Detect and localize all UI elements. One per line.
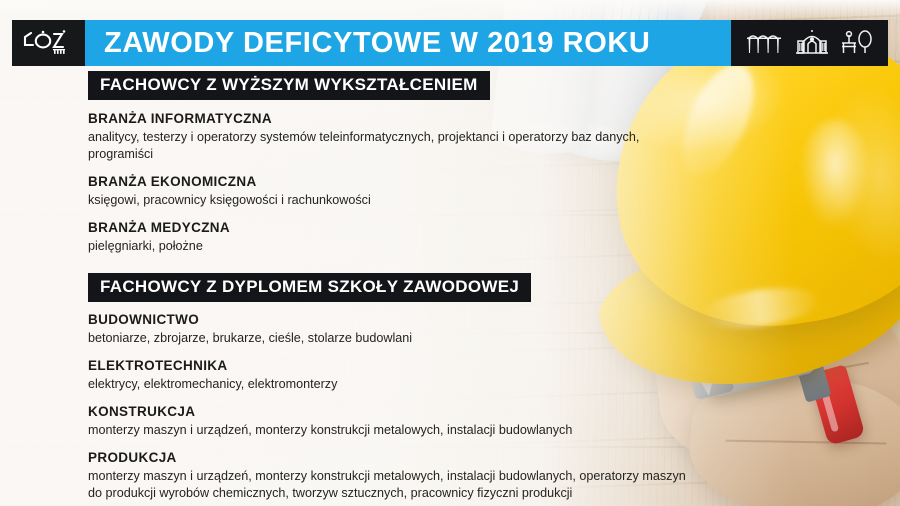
park-bench-tree-icon[interactable] xyxy=(840,29,874,57)
job-group-title: PRODUKCJA xyxy=(88,450,900,466)
job-group-desc: elektrycy, elektromechanicy, elektromont… xyxy=(88,376,688,393)
job-group-title: BRANŻA INFORMATYCZNA xyxy=(88,111,900,127)
job-group-desc: analitycy, testerzy i operatorzy systemó… xyxy=(88,129,688,163)
job-group: ELEKTROTECHNIKA elektrycy, elektromechan… xyxy=(88,358,900,393)
job-group-desc: księgowi, pracownicy księgowości i rachu… xyxy=(88,192,688,209)
section-band-higher-education: FACHOWCY Z WYŻSZYM WYKSZTAŁCENIEM xyxy=(88,71,490,100)
landmark-icon-bar xyxy=(731,20,888,66)
page-title: ZAWODY DEFICYTOWE W 2019 ROKU xyxy=(85,27,650,60)
job-group: BRANŻA MEDYCZNA pielęgniarki, położne xyxy=(88,220,900,255)
job-group: BRANŻA INFORMATYCZNA analitycy, testerzy… xyxy=(88,111,900,163)
content-column: FACHOWCY Z WYŻSZYM WYKSZTAŁCENIEM BRANŻA… xyxy=(0,66,900,506)
top-fade xyxy=(0,0,900,20)
job-group: BUDOWNICTWO betoniarze, zbrojarze, bruka… xyxy=(88,312,900,347)
job-group-title: BUDOWNICTWO xyxy=(88,312,900,328)
infographic-poster: ZAWODY DEFICYTOWE W 2019 ROKU xyxy=(0,0,900,506)
job-group-desc: pielęgniarki, położne xyxy=(88,238,688,255)
lodz-logo[interactable] xyxy=(12,20,85,66)
lodz-logo-icon xyxy=(21,28,77,58)
header: ZAWODY DEFICYTOWE W 2019 ROKU xyxy=(0,20,900,66)
job-group: PRODUKCJA monterzy maszyn i urządzeń, mo… xyxy=(88,450,900,502)
section-band-vocational: FACHOWCY Z DYPLOMEM SZKOŁY ZAWODOWEJ xyxy=(88,273,531,302)
job-group-desc: betoniarze, zbrojarze, brukarze, cieśle,… xyxy=(88,330,688,347)
job-group: KONSTRUKCJA monterzy maszyn i urządzeń, … xyxy=(88,404,900,439)
title-bar: ZAWODY DEFICYTOWE W 2019 ROKU xyxy=(85,20,731,66)
job-group-desc: monterzy maszyn i urządzeń, monterzy kon… xyxy=(88,422,688,439)
bridge-icon[interactable] xyxy=(746,30,784,56)
job-group-title: ELEKTROTECHNIKA xyxy=(88,358,900,374)
job-group-desc: monterzy maszyn i urządzeń, monterzy kon… xyxy=(88,468,688,502)
job-group: BRANŻA EKONOMICZNA księgowi, pracownicy … xyxy=(88,174,900,209)
job-group-title: BRANŻA MEDYCZNA xyxy=(88,220,900,236)
job-group-title: KONSTRUKCJA xyxy=(88,404,900,420)
building-facade-icon[interactable] xyxy=(793,29,831,57)
job-group-title: BRANŻA EKONOMICZNA xyxy=(88,174,900,190)
